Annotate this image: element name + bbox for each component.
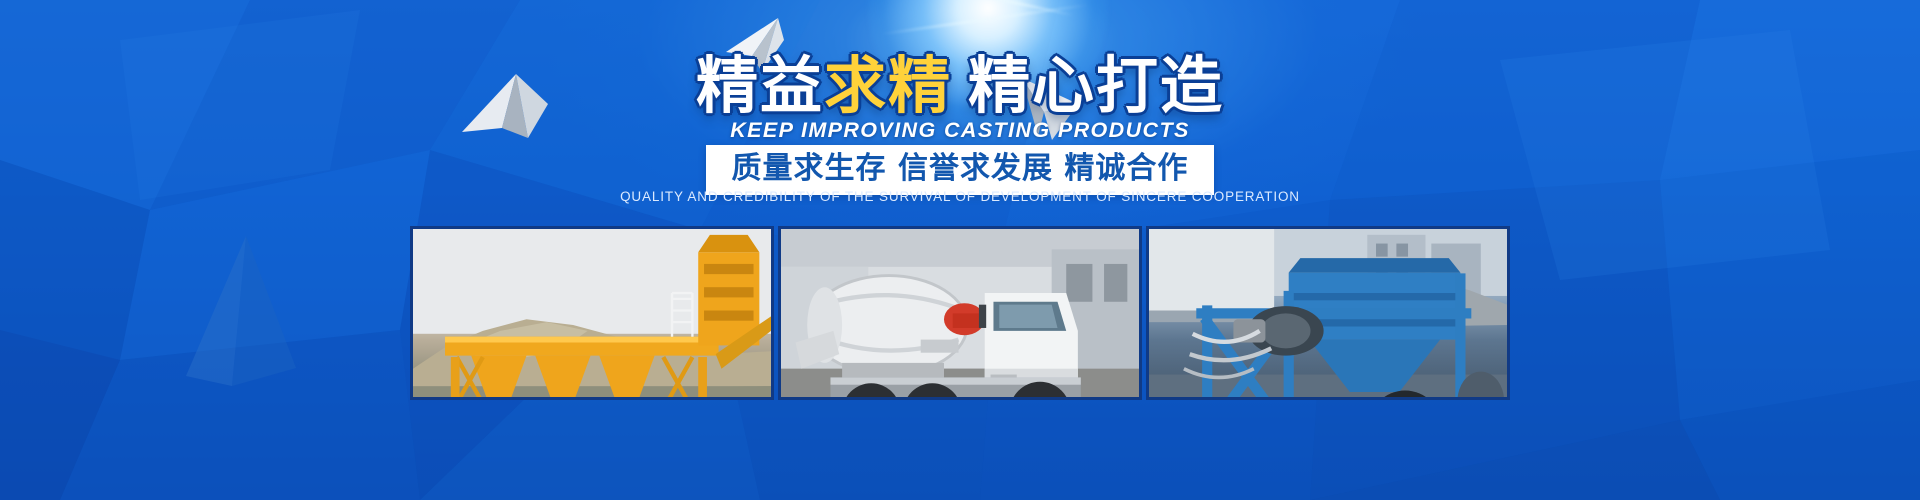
promotional-banner: 精益求精精心打造 KEEP IMPROVING CASTING PRODUCTS… (0, 0, 1920, 500)
photo-concrete-mixer-truck[interactable] (778, 226, 1142, 400)
slogan-band: 质量求生存 信誉求发展 精诚合作 (706, 145, 1215, 195)
headline-part-2: 求精 (824, 52, 952, 120)
headline-part-3: 精心打造 (968, 52, 1224, 120)
caption-english: QUALITY AND CREDIBILITY OF THE SURVIVAL … (0, 189, 1920, 204)
photo-blue-mixing-machinery[interactable] (1146, 226, 1510, 400)
photo-concrete-batching-plant[interactable] (410, 226, 774, 400)
slogan-band-wrapper: 质量求生存 信誉求发展 精诚合作 (0, 145, 1920, 195)
page-title: 精益求精精心打造 (0, 52, 1920, 120)
subtitle-english: KEEP IMPROVING CASTING PRODUCTS (0, 118, 1920, 143)
slogan-text: 质量求生存 信誉求发展 精诚合作 (732, 151, 1189, 187)
headline-part-1: 精益 (696, 52, 824, 120)
product-photo-strip (410, 226, 1510, 394)
triangle-shard-icon (186, 236, 306, 386)
